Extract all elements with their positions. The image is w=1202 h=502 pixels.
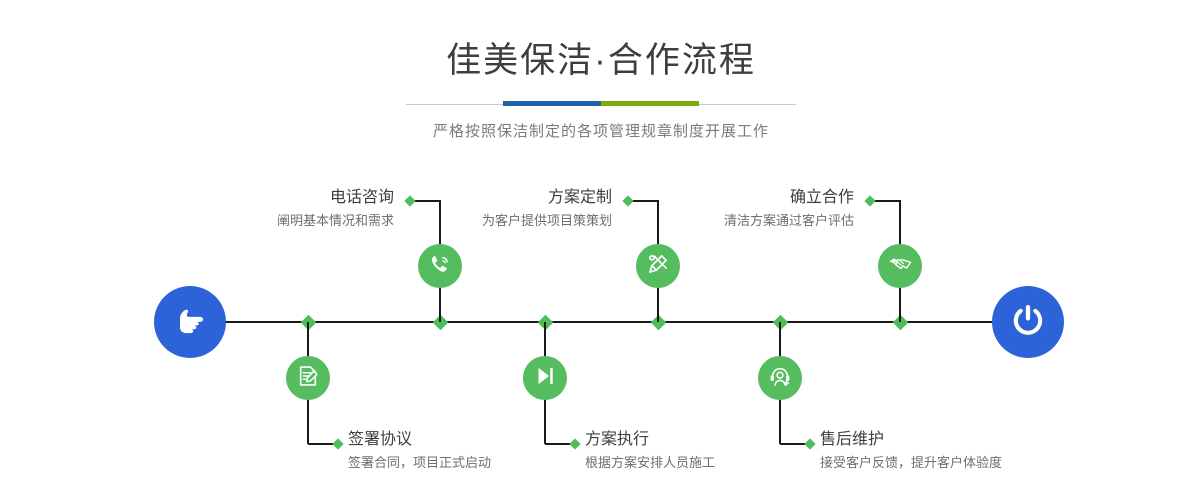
step-text-bottom-3: 售后维护 接受客户反馈，提升客户体验度 bbox=[820, 430, 1180, 472]
label-marker-top-3 bbox=[864, 195, 875, 206]
title-divider bbox=[406, 100, 796, 108]
step-desc: 接受客户反馈，提升客户体验度 bbox=[820, 454, 1180, 472]
step-icon-bottom-1 bbox=[286, 356, 330, 400]
timeline-end-endpoint bbox=[992, 286, 1064, 358]
page-header: 佳美保洁·合作流程 严格按照保洁制定的各项管理规章制度开展工作 bbox=[0, 0, 1202, 141]
step-desc: 清洁方案通过客户评估 bbox=[612, 212, 854, 230]
step-icon-top-3 bbox=[878, 244, 922, 288]
pointing-hand-icon bbox=[170, 300, 210, 345]
step-text-top-3: 确立合作 清洁方案通过客户评估 bbox=[612, 188, 854, 230]
step-title: 确立合作 bbox=[612, 188, 854, 208]
power-icon bbox=[1008, 300, 1048, 345]
label-marker-bottom-1 bbox=[332, 438, 343, 449]
step-icon-bottom-2 bbox=[523, 356, 567, 400]
step-icon-bottom-3 bbox=[758, 356, 802, 400]
step-title: 售后维护 bbox=[820, 430, 1180, 450]
handshake-icon bbox=[887, 251, 913, 282]
step-icon-top-2 bbox=[636, 244, 680, 288]
customer-service-add-icon bbox=[767, 363, 793, 394]
step-title: 电话咨询 bbox=[150, 188, 394, 208]
page-title: 佳美保洁·合作流程 bbox=[0, 40, 1202, 82]
step-desc: 阐明基本情况和需求 bbox=[150, 212, 394, 230]
flow-diagram-canvas: 佳美保洁·合作流程 严格按照保洁制定的各项管理规章制度开展工作 bbox=[0, 0, 1202, 502]
step-title: 方案定制 bbox=[370, 188, 612, 208]
page-subtitle: 严格按照保洁制定的各项管理规章制度开展工作 bbox=[0, 120, 1202, 141]
timeline-start-endpoint bbox=[154, 286, 226, 358]
step-text-top-2: 方案定制 为客户提供项目策策划 bbox=[370, 188, 612, 230]
connector-horizontal-top-3 bbox=[874, 200, 900, 202]
play-skip-icon bbox=[532, 363, 558, 394]
step-desc: 为客户提供项目策策划 bbox=[370, 212, 612, 230]
document-edit-icon bbox=[295, 363, 321, 394]
pencil-scissors-icon bbox=[645, 251, 671, 282]
step-text-top-1: 电话咨询 阐明基本情况和需求 bbox=[150, 188, 394, 230]
phone-call-icon bbox=[427, 251, 453, 282]
step-icon-top-1 bbox=[418, 244, 462, 288]
divider-blue-segment bbox=[503, 101, 601, 106]
divider-green-segment bbox=[601, 101, 699, 106]
